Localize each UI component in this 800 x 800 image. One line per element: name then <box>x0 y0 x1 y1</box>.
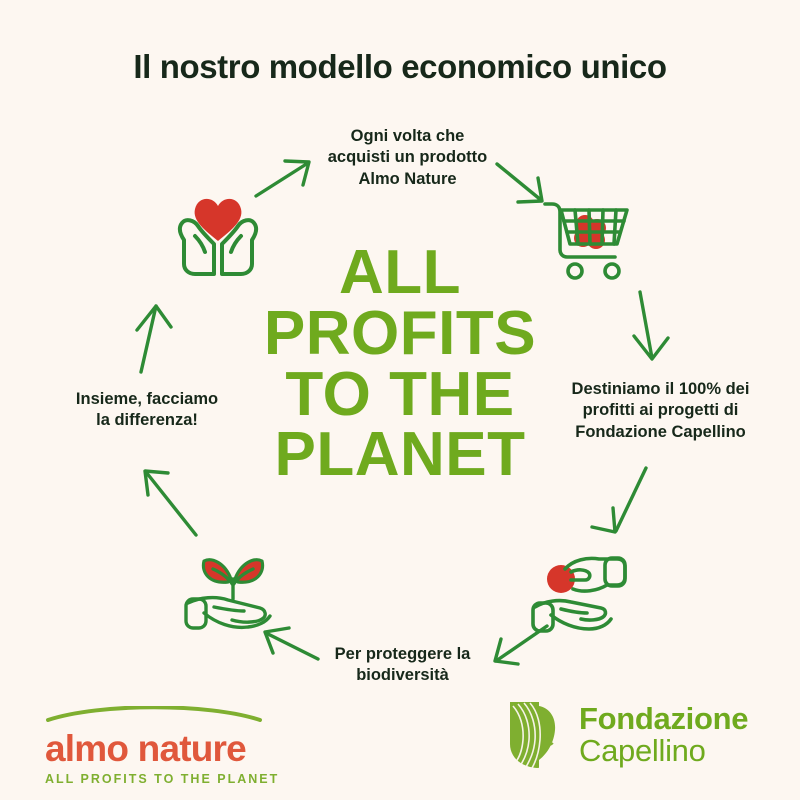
almo-nature-wordmark: almo nature <box>45 730 279 767</box>
left-thumb <box>195 236 205 252</box>
caption-together: Insieme, facciamo la differenza! <box>42 389 252 432</box>
almo-nature-logo: almo nature ALL PROFITS TO THE PLANET <box>45 706 279 786</box>
right-thumb <box>231 236 241 252</box>
hands-holding-heart-icon <box>168 186 268 282</box>
sprout-stem <box>213 569 253 599</box>
claim-line-1: ALL <box>250 243 550 304</box>
caption-purchase-line-3: Almo Nature <box>305 169 510 190</box>
fondazione-line-1: Fondazione <box>579 703 748 735</box>
claim-line-4: PLANET <box>250 425 550 486</box>
infographic-poster: Il nostro modello economico unico <box>0 0 800 800</box>
woman-profile-shield-icon <box>508 700 566 770</box>
arrow-sprout-to-together <box>145 471 196 535</box>
cart-wheel-right <box>605 264 619 278</box>
shopping-cart-icon <box>539 192 639 288</box>
claim-line-3: TO THE <box>250 365 550 426</box>
caption-profits-line-1: Destiniamo il 100% dei <box>548 379 773 400</box>
caption-together-line-1: Insieme, facciamo <box>42 389 252 410</box>
caption-profits: Destiniamo il 100% dei profitti ai proge… <box>548 379 773 443</box>
heart-shape <box>195 199 242 241</box>
arrow-cart-to-profits <box>634 292 668 359</box>
sprout-hand-crease <box>214 607 244 611</box>
hand-with-sprout-icon <box>182 541 284 633</box>
fondazione-line-2: Capellino <box>579 735 748 767</box>
caption-biodiversity-line-1: Per proteggere la <box>300 644 505 665</box>
caption-together-line-2: la differenza! <box>42 410 252 431</box>
caption-profits-line-2: profitti ai progetti di <box>548 400 773 421</box>
caption-biodiversity: Per proteggere la biodiversità <box>300 644 505 687</box>
caption-purchase-line-2: acquisti un prodotto <box>305 147 510 168</box>
fondazione-capellino-logo: Fondazione Capellino <box>508 700 748 770</box>
center-claim: ALL PROFITS TO THE PLANET <box>250 243 550 486</box>
almo-nature-tagline: ALL PROFITS TO THE PLANET <box>45 773 279 786</box>
claim-line-2: PROFITS <box>250 304 550 365</box>
caption-profits-line-3: Fondazione Capellino <box>548 422 773 443</box>
caption-purchase: Ogni volta che acquisti un prodotto Almo… <box>305 126 510 190</box>
caption-biodiversity-line-2: biodiversità <box>300 665 505 686</box>
caption-purchase-line-1: Ogni volta che <box>305 126 510 147</box>
almo-arc-icon <box>45 706 263 722</box>
page-title: Il nostro modello economico unico <box>0 48 800 86</box>
arrow-together-to-heart <box>137 306 171 372</box>
palm-crease <box>561 609 587 613</box>
cart-wheel-left <box>568 264 582 278</box>
arrow-profits-to-hand <box>592 468 646 532</box>
hand-giving-coin-icon <box>527 545 631 637</box>
